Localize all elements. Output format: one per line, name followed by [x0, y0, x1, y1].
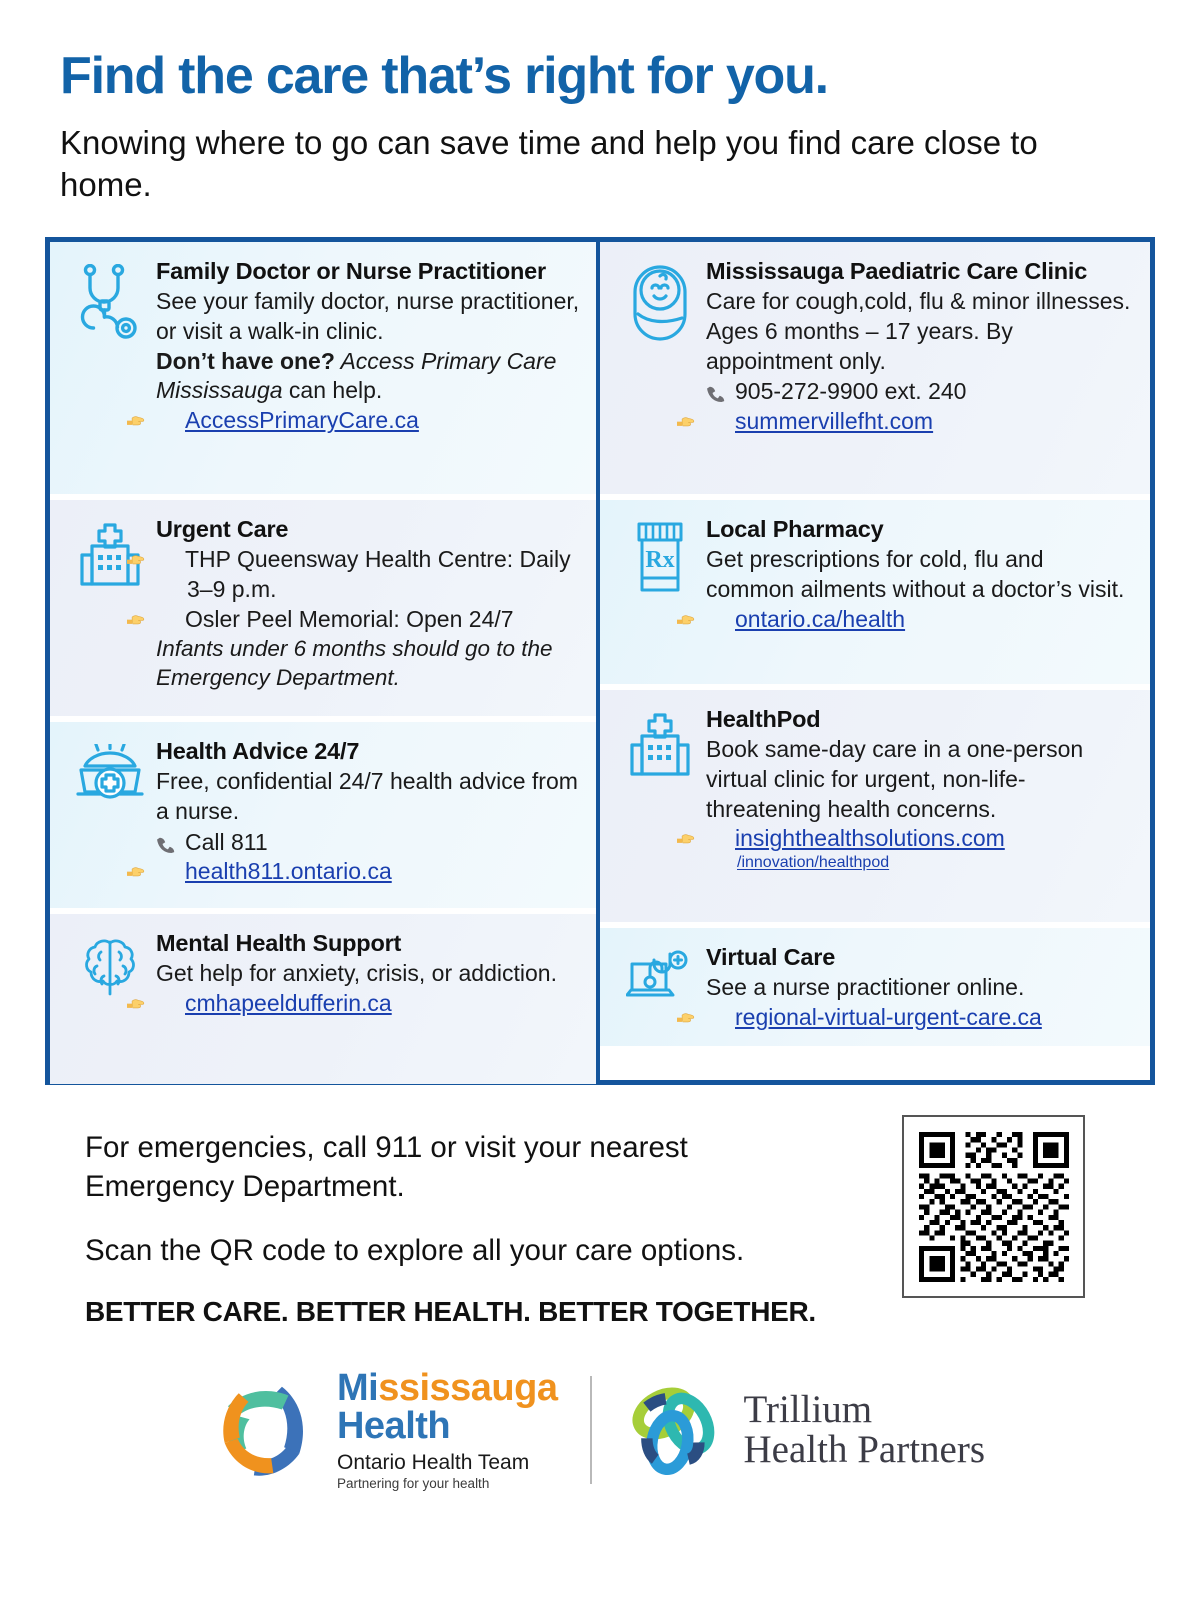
mississauga-health-tagline: Partnering for your health	[337, 1477, 558, 1491]
trillium-name-line1: Trillium	[744, 1390, 986, 1431]
pointing-hand-icon	[706, 826, 727, 843]
hospital-icon	[614, 706, 706, 908]
tagline: BETTER CARE. BETTER HEALTH. BETTER TOGET…	[85, 1296, 902, 1328]
phone-text: 905-272-9900 ext. 240	[735, 378, 966, 404]
mississauga-health-subtitle: Ontario Health Team	[337, 1452, 558, 1473]
trillium-rings-icon	[624, 1378, 728, 1482]
card-urgent-care: Urgent Care THP Queensway Health Centre:…	[50, 494, 596, 716]
stethoscope-icon	[64, 258, 156, 480]
card-title: Urgent Care	[156, 516, 582, 543]
emergency-note: For emergencies, call 911 or visit your …	[85, 1129, 845, 1206]
footer: For emergencies, call 911 or visit your …	[85, 1115, 1155, 1328]
urgent-note: Infants under 6 months should go to the …	[156, 635, 582, 693]
logo-name-part3: Health	[337, 1408, 558, 1445]
card-description: See your family doctor, nurse practition…	[156, 287, 582, 347]
card-description: Book same-day care in a one-person virtu…	[706, 735, 1136, 825]
card-title: Mental Health Support	[156, 930, 582, 957]
mississauga-health-name: MississaugaHealth	[337, 1370, 558, 1444]
card-link[interactable]: health811.ontario.ca	[185, 858, 392, 884]
card-link[interactable]: cmhapeeldufferin.ca	[185, 990, 392, 1016]
page-title: Find the care that’s right for you.	[60, 48, 1140, 104]
svg-text:Rx: Rx	[645, 547, 674, 573]
logo-divider	[590, 1376, 592, 1484]
card-link-row: cmhapeeldufferin.ca	[156, 989, 582, 1019]
swaddled-baby-icon	[614, 258, 706, 480]
card-paediatric-clinic: Mississauga Paediatric Care Clinic Care …	[600, 242, 1150, 494]
phone-row: 905-272-9900 ext. 240	[706, 376, 1136, 407]
telephone-receiver-icon	[156, 830, 178, 848]
card-title: HealthPod	[706, 706, 1136, 733]
card-description: Get help for anxiety, crisis, or addicti…	[156, 959, 582, 989]
page-subtitle: Knowing where to go can save time and he…	[60, 122, 1080, 205]
mississauga-health-logo: MississaugaHealth Ontario Health Team Pa…	[215, 1370, 558, 1490]
callout-tail: can help.	[283, 377, 383, 403]
header: Find the care that’s right for you. Know…	[40, 0, 1160, 205]
scan-note: Scan the QR code to explore all your car…	[85, 1232, 845, 1270]
pill-bottle-rx-icon: Rx	[614, 516, 706, 670]
card-callout: Don’t have one? Access Primary Care Miss…	[156, 347, 582, 407]
pointing-hand-icon	[706, 409, 727, 426]
card-title: Health Advice 24/7	[156, 738, 582, 765]
card-mental-health: Mental Health Support Get help for anxie…	[50, 908, 596, 1084]
logo-name-part1: Mi	[337, 1367, 378, 1409]
card-link[interactable]: ontario.ca/health	[735, 606, 905, 632]
pointing-hand-icon	[156, 859, 177, 876]
card-title: Local Pharmacy	[706, 516, 1136, 543]
bullet-text: Osler Peel Memorial: Open 24/7	[185, 606, 514, 632]
pointing-hand-icon	[156, 408, 177, 425]
pointing-hand-icon	[706, 607, 727, 624]
telephone-receiver-icon	[706, 379, 728, 397]
pointing-hand-icon	[156, 607, 177, 624]
card-link[interactable]: summervillefht.com	[735, 408, 933, 434]
card-title: Family Doctor or Nurse Practitioner	[156, 258, 582, 285]
card-link-row: AccessPrimaryCare.ca	[156, 406, 582, 436]
left-column: Family Doctor or Nurse Practitioner See …	[50, 242, 600, 1080]
card-link[interactable]: regional-virtual-urgent-care.ca	[735, 1004, 1042, 1030]
card-local-pharmacy: Rx Local Pharmacy Get prescriptions for …	[600, 494, 1150, 684]
logo-name-part2: ssissauga	[378, 1367, 557, 1409]
mississauga-health-mark-icon	[215, 1376, 323, 1484]
qr-code-image	[919, 1132, 1069, 1282]
pointing-hand-icon	[156, 991, 177, 1008]
poster-root: Find the care that’s right for you. Know…	[0, 0, 1200, 1606]
right-column: Mississauga Paediatric Care Clinic Care …	[600, 242, 1150, 1080]
trillium-name-line2: Health Partners	[744, 1430, 986, 1471]
card-link-row: summervillefht.com	[706, 407, 1136, 437]
card-description: Care for cough,cold, flu & minor illness…	[706, 287, 1136, 377]
card-link-row: regional-virtual-urgent-care.ca	[706, 1003, 1136, 1033]
bullet-text: THP Queensway Health Centre: Daily 3–9 p…	[185, 546, 571, 602]
phone-row: Call 811	[156, 827, 582, 858]
card-description: Get prescriptions for cold, flu and comm…	[706, 545, 1136, 605]
pointing-hand-icon	[706, 1005, 727, 1022]
card-description: Free, confidential 24/7 health advice fr…	[156, 767, 582, 827]
phone-text: Call 811	[185, 829, 268, 855]
card-description: See a nurse practitioner online.	[706, 973, 1136, 1003]
logo-bar: MississaugaHealth Ontario Health Team Pa…	[40, 1370, 1160, 1490]
care-options-panel: Family Doctor or Nurse Practitioner See …	[45, 237, 1155, 1085]
card-link-row: insighthealthsolutions.com	[706, 824, 1136, 854]
card-link-row: ontario.ca/health	[706, 605, 1136, 635]
callout-bold: Don’t have one?	[156, 348, 335, 374]
qr-code[interactable]	[902, 1115, 1085, 1298]
card-link[interactable]: insighthealthsolutions.com	[735, 825, 1005, 851]
card-link-continuation[interactable]: /innovation/healthpod	[706, 854, 1136, 872]
urgent-bullet-2: Osler Peel Memorial: Open 24/7	[156, 605, 582, 635]
card-healthpod: HealthPod Book same-day care in a one-pe…	[600, 684, 1150, 922]
card-title: Mississauga Paediatric Care Clinic	[706, 258, 1136, 285]
card-virtual-care: Virtual Care See a nurse practitioner on…	[600, 922, 1150, 1046]
card-link-row: health811.ontario.ca	[156, 857, 582, 887]
card-family-doctor: Family Doctor or Nurse Practitioner See …	[50, 242, 596, 494]
card-health-advice: Health Advice 24/7 Free, confidential 24…	[50, 716, 596, 908]
card-title: Virtual Care	[706, 944, 1136, 971]
card-link[interactable]: AccessPrimaryCare.ca	[185, 407, 419, 433]
pointing-hand-icon	[156, 547, 177, 564]
trillium-health-partners-logo: Trillium Health Partners	[624, 1378, 986, 1482]
urgent-bullet-1: THP Queensway Health Centre: Daily 3–9 p…	[156, 545, 582, 605]
